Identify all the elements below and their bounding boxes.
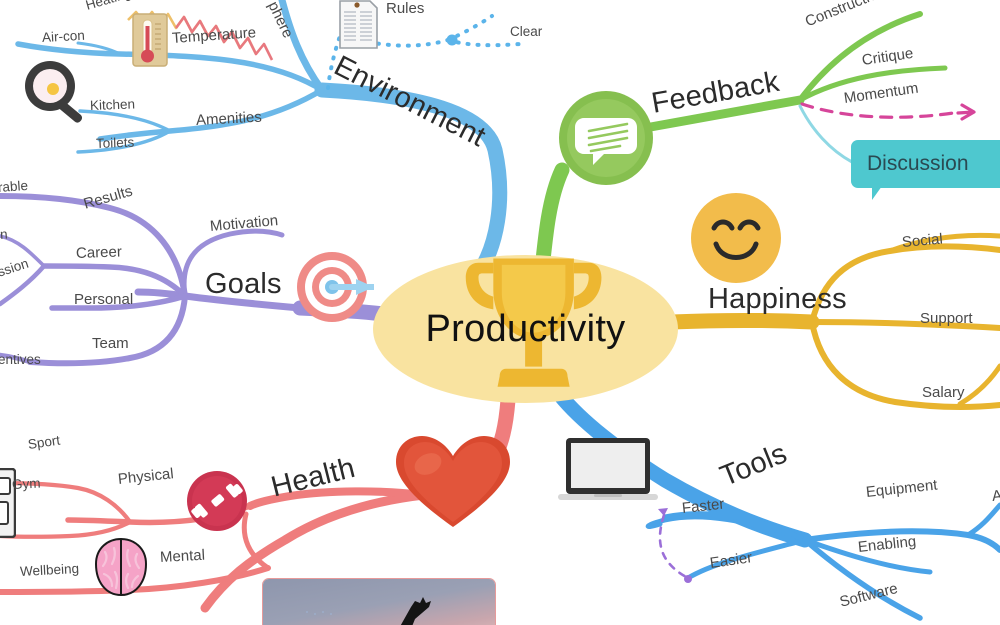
node-label-clear[interactable]: Clear xyxy=(510,24,542,39)
laptop-icon xyxy=(556,436,660,510)
node-label-personal[interactable]: Personal xyxy=(74,291,133,308)
brain-icon xyxy=(92,536,150,598)
node-label-incentives-cut[interactable]: entives xyxy=(0,352,41,367)
node-label-toilets[interactable]: Toilets xyxy=(96,135,135,151)
node-label-salary[interactable]: Salary xyxy=(922,384,965,401)
node-label-air-con[interactable]: Air-con xyxy=(42,28,85,45)
node-label-kitchen[interactable]: Kitchen xyxy=(90,96,136,113)
mindmap-canvas[interactable]: Productivity xyxy=(0,0,1000,625)
node-label-amenities[interactable]: Amenities xyxy=(196,109,263,129)
node-label-wellbeing[interactable]: Wellbeing xyxy=(20,561,80,579)
center-label: Productivity xyxy=(373,255,678,403)
node-label-social[interactable]: Social xyxy=(901,230,943,250)
thermometer-icon xyxy=(131,12,169,68)
discussion-callout[interactable]: Discussion xyxy=(851,140,1000,188)
document-icon xyxy=(337,0,379,50)
branch-label-goals[interactable]: Goals xyxy=(205,268,282,301)
node-label-measurable-cut[interactable]: rable xyxy=(0,178,28,195)
smiley-icon xyxy=(690,192,782,284)
discussion-callout-tail xyxy=(872,186,892,200)
node-label-rules[interactable]: Rules xyxy=(386,0,424,17)
dumbbell-icon[interactable] xyxy=(186,470,248,532)
node-label-career[interactable]: Career xyxy=(76,243,122,262)
heart-icon xyxy=(392,432,514,530)
sunset-photo-thumbnail[interactable] xyxy=(262,578,496,625)
node-label-career-child-1-cut[interactable]: n xyxy=(0,226,8,241)
node-label-support[interactable]: Support xyxy=(920,310,973,327)
target-icon xyxy=(296,248,374,326)
node-label-mental[interactable]: Mental xyxy=(160,547,206,566)
frying-pan-icon xyxy=(18,58,96,136)
speech-bubble-icon[interactable] xyxy=(558,90,654,186)
node-label-team[interactable]: Team xyxy=(92,335,129,352)
branch-environment[interactable] xyxy=(18,0,520,285)
branch-label-happiness[interactable]: Happiness xyxy=(708,283,847,316)
node-label-tools-cut[interactable]: A xyxy=(991,487,1000,505)
node-label-gym[interactable]: Gym xyxy=(12,476,41,492)
